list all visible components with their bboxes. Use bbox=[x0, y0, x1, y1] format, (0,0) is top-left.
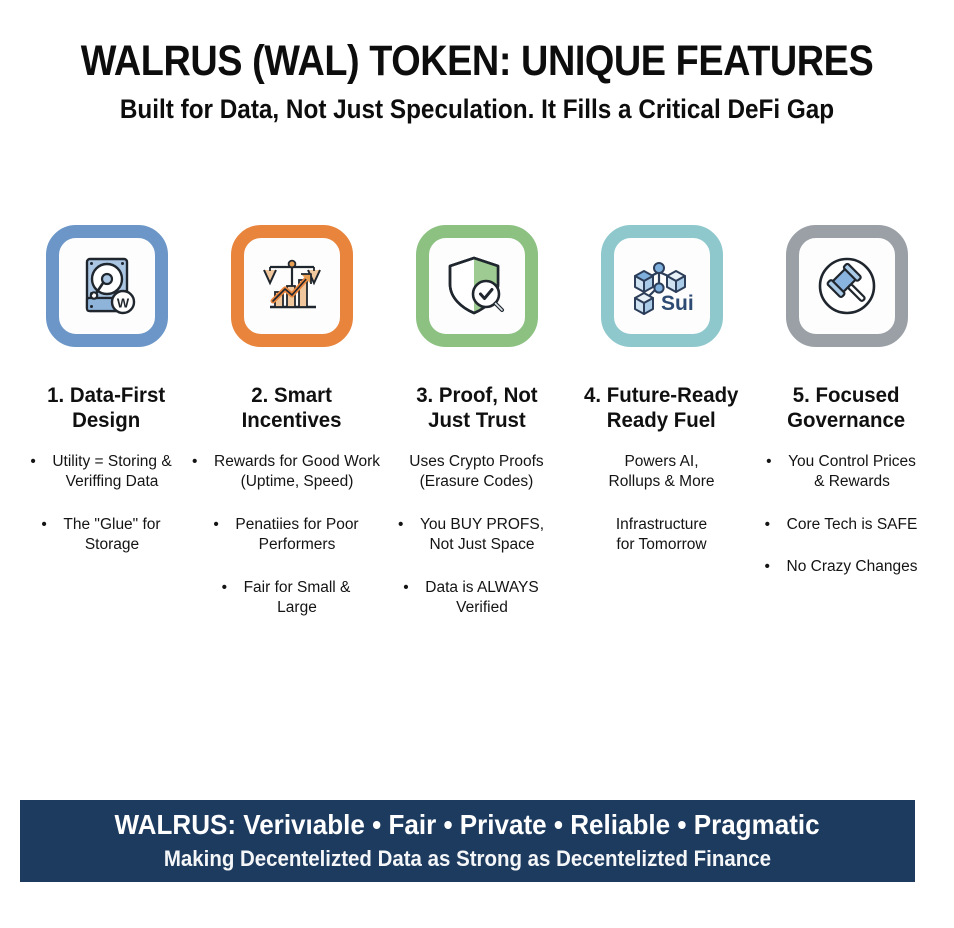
feature-bullets-1: Utility = Storing & Veriffing Data The "… bbox=[14, 452, 199, 578]
banner-subtagline: Making Decentelizted Data as Strong as D… bbox=[164, 846, 771, 871]
feature-bullets-4: Powers AI, Rollups & More Infrastructure… bbox=[569, 452, 754, 578]
feature-column-3: 3. Proof, Not Just Trust Uses Crypto Pro… bbox=[384, 225, 569, 640]
icon-tile-3 bbox=[416, 225, 538, 347]
page-title: WALRUS (WAL) TOKEN: UNIQUE FEATURES bbox=[57, 38, 897, 84]
header: WALRUS (WAL) TOKEN: UNIQUE FEATURES Buil… bbox=[0, 38, 954, 125]
icon-tile-4: Sui bbox=[601, 225, 723, 347]
feature-column-4: Sui 4. Future-Ready Ready Fuel Powers AI… bbox=[569, 225, 754, 578]
bullet-item: No Crazy Changes bbox=[776, 557, 918, 577]
bullet-item: The "Glue" for Storage bbox=[52, 515, 160, 556]
page-subtitle: Built for Data, Not Just Speculation. It… bbox=[48, 94, 907, 124]
feature-bullets-2: Rewards for Good Work (Uptime, Speed) Pe… bbox=[199, 452, 384, 641]
feature-bullets-3: Uses Crypto Proofs (Erasure Codes) You B… bbox=[384, 452, 569, 641]
svg-text:W: W bbox=[116, 296, 129, 311]
footer-banner: WALRUS: Verivıable • Fair • Private • Re… bbox=[20, 800, 915, 882]
banner-tagline: WALRUS: Verivıable • Fair • Private • Re… bbox=[115, 810, 820, 841]
bullet-item: Infrastructure for Tomorrow bbox=[616, 515, 707, 556]
bullet-item: Data is ALWAYS Verified bbox=[414, 578, 538, 619]
bullet-item: Rewards for Good Work (Uptime, Speed) bbox=[203, 452, 380, 493]
feature-column-2: 2. Smart Incentives Rewards for Good Wor… bbox=[199, 225, 384, 640]
bullet-item: Penatiies for Poor Performers bbox=[224, 515, 358, 556]
icon-tile-1: W bbox=[46, 225, 168, 347]
icon-tile-5 bbox=[786, 225, 908, 347]
bullet-item: You Control Prices & Rewards bbox=[777, 452, 916, 493]
feature-bullets-5: You Control Prices & Rewards Core Tech i… bbox=[754, 452, 939, 600]
feature-heading-1: 1. Data-First Design bbox=[47, 383, 165, 434]
feature-column-5: 5. Focused Governance You Control Prices… bbox=[754, 225, 939, 600]
sui-blockchain-cubes-icon: Sui bbox=[623, 250, 701, 322]
feature-columns: W 1. Data-First Design Utility = Storing… bbox=[14, 225, 940, 640]
gavel-in-circle-icon bbox=[811, 250, 883, 322]
shield-magnifier-check-icon bbox=[441, 250, 513, 322]
icon-tile-2 bbox=[231, 225, 353, 347]
feature-heading-4: 4. Future-Ready Ready Fuel bbox=[584, 383, 738, 434]
bullet-item: Fair for Small & Large bbox=[233, 578, 351, 619]
bullet-item: Powers AI, Rollups & More bbox=[609, 452, 715, 493]
sui-label: Sui bbox=[661, 292, 694, 315]
feature-heading-2: 2. Smart Incentives bbox=[242, 383, 342, 434]
feature-heading-5: 5. Focused Governance bbox=[787, 383, 905, 434]
bullet-item: Utility = Storing & Veriffing Data bbox=[41, 452, 171, 493]
feature-heading-3: 3. Proof, Not Just Trust bbox=[416, 383, 537, 434]
balance-scale-growth-chart-icon bbox=[256, 250, 328, 322]
bullet-item: Uses Crypto Proofs (Erasure Codes) bbox=[409, 452, 543, 493]
bullet-item: Core Tech is SAFE bbox=[776, 515, 918, 535]
hard-drive-with-w-badge-icon: W bbox=[71, 250, 143, 322]
bullet-item: You BUY PROFS, Not Just Space bbox=[409, 515, 544, 556]
feature-column-1: W 1. Data-First Design Utility = Storing… bbox=[14, 225, 199, 578]
